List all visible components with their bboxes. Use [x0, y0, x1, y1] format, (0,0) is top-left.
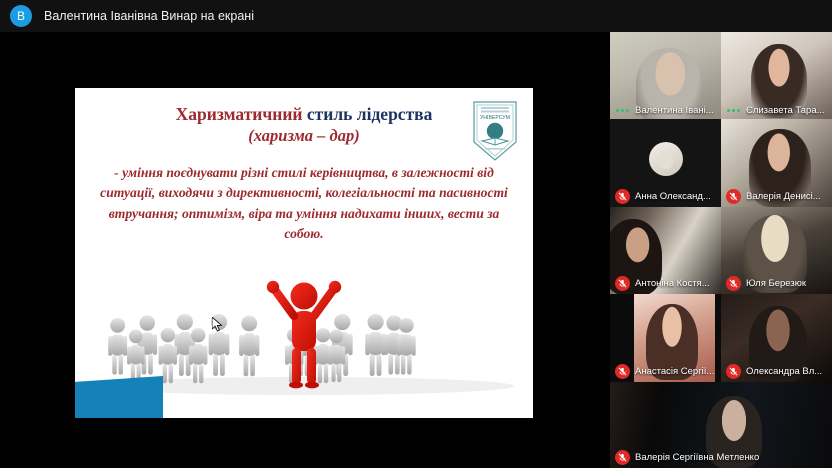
participant-label: Анастасія Сергії...	[610, 364, 721, 379]
participant-sidebar[interactable]: Валентина Івані... Єлизавета Тара...	[610, 32, 832, 468]
participant-tile[interactable]: Валентина Івані...	[610, 32, 721, 119]
participant-name: Валентина Івані...	[635, 105, 714, 116]
participant-tile[interactable]: Антоніна Костя...	[610, 207, 721, 294]
participant-label: Валентина Івані...	[610, 105, 721, 116]
participant-tile[interactable]: Анастасія Сергії...	[610, 294, 721, 382]
participant-label: Валерія Денисі...	[721, 189, 832, 204]
speaking-indicator-icon	[615, 109, 630, 112]
participant-name: Єлизавета Тара...	[746, 105, 825, 116]
participant-tile[interactable]: Юля Березюк	[721, 207, 832, 294]
participant-name: Антоніна Костя...	[635, 278, 710, 289]
participant-label: Валерія Сергіївна Метленко	[610, 450, 832, 465]
participant-name: Валерія Денисі...	[746, 191, 821, 202]
slide-title: Харизматичний стиль лідерства (харизма –…	[75, 104, 533, 147]
leader-crowd-illustration	[75, 268, 533, 396]
slide-title-part-1: Харизматичний	[176, 104, 303, 124]
mic-off-icon	[615, 364, 630, 379]
slide-title-part-2: стиль лідерства	[307, 104, 433, 124]
participant-tile[interactable]: Єлизавета Тара...	[721, 32, 832, 119]
participant-name: Анастасія Сергії...	[635, 366, 714, 377]
mic-off-icon	[615, 276, 630, 291]
presentation-slide: Харизматичний стиль лідерства (харизма –…	[75, 88, 533, 418]
screen-share-title: Валентина Іванівна Винар на екрані	[44, 9, 254, 23]
mouse-cursor	[212, 317, 223, 332]
participant-label: Анна Олександ...	[610, 189, 721, 204]
participant-name: Анна Олександ...	[635, 191, 711, 202]
mic-off-icon	[726, 189, 741, 204]
participant-label: Олександра Вл...	[721, 364, 832, 379]
participant-row: Антоніна Костя... Юля Березюк	[610, 207, 832, 294]
participant-row: Валентина Івані... Єлизавета Тара...	[610, 32, 832, 119]
slide-decoration	[75, 376, 163, 418]
shared-screen-stage[interactable]: Харизматичний стиль лідерства (харизма –…	[0, 32, 610, 468]
top-bar: В Валентина Іванівна Винар на екрані	[0, 0, 832, 32]
mic-off-icon	[726, 276, 741, 291]
slide-body-text: - уміння поєднувати різні стилі керівниц…	[75, 163, 533, 246]
participant-label: Єлизавета Тара...	[721, 105, 832, 116]
avatar	[649, 142, 683, 176]
participant-row: Анастасія Сергії... Олександра Вл...	[610, 294, 832, 382]
mic-off-icon	[726, 364, 741, 379]
participant-tile[interactable]: Олександра Вл...	[721, 294, 832, 382]
speaking-indicator-icon	[726, 109, 741, 112]
participant-tile[interactable]: Валерія Сергіївна Метленко	[610, 382, 832, 468]
participant-row: Валерія Сергіївна Метленко	[610, 382, 832, 468]
mic-off-icon	[615, 450, 630, 465]
video-conference-window: В Валентина Іванівна Винар на екрані В В…	[0, 0, 832, 468]
participant-name: Валерія Сергіївна Метленко	[635, 452, 759, 463]
slide-subtitle: (харизма – дар)	[75, 126, 533, 147]
participant-label: Антоніна Костя...	[610, 276, 721, 291]
university-emblem: УНІВЕРСУМ	[471, 100, 519, 162]
participant-name: Юля Березюк	[746, 278, 806, 289]
presenter-avatar: В	[10, 5, 32, 27]
participant-row: Анна Олександ... Валерія Денисі...	[610, 119, 832, 207]
participant-name: Олександра Вл...	[746, 366, 822, 377]
participant-label: Юля Березюк	[721, 276, 832, 291]
participant-tile[interactable]: Анна Олександ...	[610, 119, 721, 207]
participant-tile[interactable]: Валерія Денисі...	[721, 119, 832, 207]
mic-off-icon	[615, 189, 630, 204]
svg-text:УНІВЕРСУМ: УНІВЕРСУМ	[480, 115, 510, 121]
